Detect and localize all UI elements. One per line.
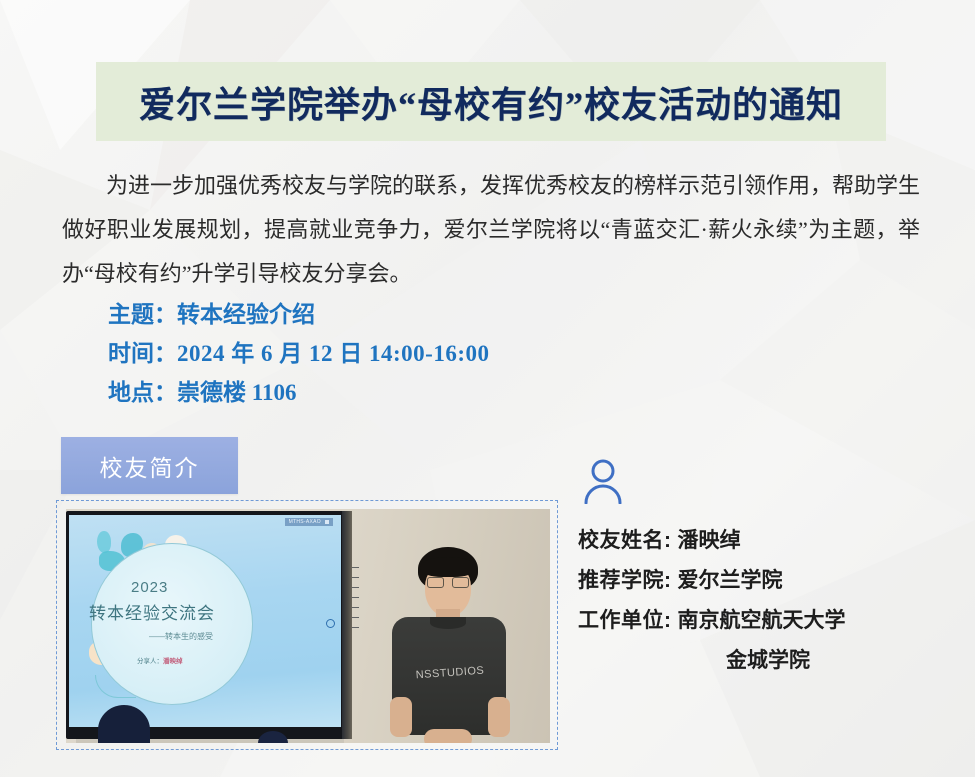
presenter-fringe: [420, 557, 476, 577]
presenter-right-arm: [488, 697, 510, 737]
notice-page: 爱尔兰学院举办“母校有约”校友活动的通知 为进一步加强优秀校友与学院的联系，发挥…: [0, 0, 975, 777]
page-title: 爱尔兰学院举办“母校有约”校友活动的通知: [139, 76, 843, 128]
alumni-employer-value: 南京航空航天大学: [678, 609, 846, 632]
presentation-screen: 2023 转本经验交流会 ——转本生的感受 分享人：潘映绰 MTHS-AXAO: [69, 515, 341, 727]
alumni-employer-continuation: 金城学院: [578, 641, 918, 681]
slide-presenter-name: 潘映绰: [163, 658, 183, 665]
display-side-edge: [342, 511, 352, 739]
display-side-button: [352, 597, 359, 598]
event-detail-location-label: 地点：: [108, 380, 177, 405]
display-side-button: [352, 587, 359, 588]
event-detail-topic: 主题：转本经验介绍: [108, 296, 489, 334]
event-detail-location-value: 崇德楼 1106: [177, 380, 296, 405]
event-details-list: 主题：转本经验介绍 时间：2024 年 6 月 12 日 14:00-16:00…: [108, 296, 489, 413]
alumni-name-value: 潘映绰: [678, 529, 741, 552]
display-side-button: [352, 607, 359, 608]
alumni-profile-badge: 校友简介: [61, 437, 238, 494]
alumni-info-block: 校友姓名:潘映绰 推荐学院:爱尔兰学院 工作单位:南京航空航天大学 金城学院: [578, 521, 918, 681]
event-photo: 2023 转本经验交流会 ——转本生的感受 分享人：潘映绰 MTHS-AXAO: [66, 509, 550, 743]
event-detail-time: 时间：2024 年 6 月 12 日 14:00-16:00: [108, 335, 489, 373]
event-detail-topic-label: 主题：: [108, 302, 177, 327]
presentation-display: 2023 转本经验交流会 ——转本生的感受 分享人：潘映绰 MTHS-AXAO: [66, 511, 349, 739]
alumni-employer-label: 工作单位:: [578, 609, 672, 632]
presenter-hands: [424, 729, 472, 743]
presenter-figure: NSSTUDIOS: [384, 547, 516, 743]
alumni-name-row: 校友姓名:潘映绰: [578, 521, 918, 561]
slide-year: 2023: [131, 579, 168, 596]
slide-presenter: 分享人：潘映绰: [137, 655, 183, 665]
alumni-profile-badge-label: 校友简介: [100, 449, 200, 483]
screen-power-dot-icon: [326, 619, 335, 628]
slide-decoration-flower: [97, 531, 111, 553]
display-side-button: [352, 577, 359, 578]
alumni-college-value: 爱尔兰学院: [678, 569, 783, 592]
event-detail-location: 地点：崇德楼 1106: [108, 374, 489, 412]
display-side-buttons: [352, 567, 361, 659]
title-banner: 爱尔兰学院举办“母校有约”校友活动的通知: [96, 62, 886, 141]
display-side-button: [352, 567, 359, 568]
screen-tag-square-icon: [325, 520, 329, 524]
event-detail-time-label: 时间：: [108, 341, 177, 366]
slide-decoration-leaf: [95, 675, 136, 698]
slide-title: 转本经验交流会: [89, 599, 215, 624]
alumni-college-row: 推荐学院:爱尔兰学院: [578, 561, 918, 601]
screen-source-tag: MTHS-AXAO: [285, 518, 333, 526]
presenter-collar: [430, 617, 466, 629]
slide-presenter-label: 分享人：: [137, 658, 163, 665]
alumni-name-label: 校友姓名:: [578, 529, 672, 552]
glasses-icon: [427, 577, 469, 587]
slide-subtitle: ——转本生的感受: [149, 631, 213, 642]
event-detail-topic-value: 转本经验介绍: [177, 302, 315, 327]
photo-frame: 2023 转本经验交流会 ——转本生的感受 分享人：潘映绰 MTHS-AXAO: [56, 500, 558, 750]
person-icon: [582, 458, 624, 504]
alumni-college-label: 推荐学院:: [578, 569, 672, 592]
body-paragraph: 为进一步加强优秀校友与学院的联系，发挥优秀校友的榜样示范引领作用，帮助学生做好职…: [62, 164, 920, 296]
screen-source-tag-label: MTHS-AXAO: [289, 519, 321, 525]
event-detail-time-value: 2024 年 6 月 12 日 14:00-16:00: [177, 341, 489, 366]
display-side-button: [352, 617, 359, 618]
display-side-button: [352, 627, 359, 628]
presenter-left-arm: [390, 697, 412, 737]
alumni-employer-row: 工作单位:南京航空航天大学: [578, 601, 918, 641]
